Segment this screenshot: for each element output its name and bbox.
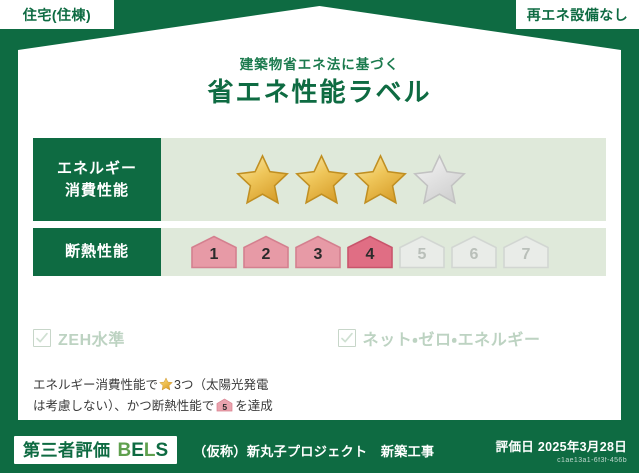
zeh-standard-checkbox[interactable] (33, 329, 51, 347)
evaluation-id: c1ae13a1-6f3f-456b (496, 457, 627, 464)
zeh-row: ZEH水準 エネルギー消費性能で3つ（太陽光発電は考慮しない）、かつ断熱性能で5… (33, 326, 606, 416)
energy-consumption-value (161, 138, 606, 221)
bels-letter-e: E (131, 440, 144, 461)
energy-performance-label: 住宅(住棟) 再エネ設備なし 建築物省エネ法に基づく 省エネ性能ラベル エネルギ… (0, 0, 639, 473)
inline-star-icon (159, 377, 173, 391)
zeh-standard-description: エネルギー消費性能で3つ（太陽光発電は考慮しない）、かつ断熱性能で5を達成 (33, 355, 302, 416)
insulation-level-number: 6 (470, 247, 479, 270)
bels-letter-s: S (156, 440, 169, 461)
insulation-performance-label-text: 断熱性能 (65, 241, 129, 263)
zeh-section: ZEH水準 エネルギー消費性能で3つ（太陽光発電は考慮しない）、かつ断熱性能で5… (33, 326, 606, 416)
insulation-level-2: 2 (241, 234, 291, 270)
star-filled-icon (353, 153, 408, 206)
net-zero-energy-checkbox[interactable] (338, 329, 356, 347)
insulation-level-5: 5 (397, 234, 447, 270)
insulation-level-scale: 1234567 (189, 234, 551, 270)
building-type-tag: 住宅(住棟) (0, 0, 116, 31)
insulation-level-6: 6 (449, 234, 499, 270)
net-zero-energy-title: ネット・ゼロ・エネルギー (363, 326, 541, 350)
energy-consumption-label: エネルギー 消費性能 (33, 138, 161, 221)
renewable-equipment-tag: 再エネ設備なし (514, 0, 639, 31)
energy-consumption-label-line1: エネルギー (57, 158, 137, 180)
insulation-performance-label: 断熱性能 (33, 228, 161, 276)
insulation-level-number: 7 (522, 247, 531, 270)
insulation-level-number: 1 (210, 247, 219, 270)
check-icon (340, 331, 354, 345)
evaluation-date-label: 評価日 (496, 440, 534, 454)
star-rating (235, 153, 467, 206)
label-title-block: 建築物省エネ法に基づく 省エネ性能ラベル (0, 58, 639, 106)
star-filled-icon (235, 153, 290, 206)
zeh-desc-part2: は考慮しない）、かつ断熱性能で (33, 399, 214, 413)
bels-letter-b: B (118, 440, 132, 461)
zeh-standard-title: ZEH水準 (58, 326, 125, 350)
insulation-level-4: 4 (345, 234, 395, 270)
building-type-tag-label: 住宅(住棟) (23, 5, 91, 25)
energy-consumption-label-line2: 消費性能 (65, 180, 129, 202)
check-icon (35, 331, 49, 345)
inline-house-icon: 5 (216, 398, 233, 412)
insulation-level-number: 2 (262, 247, 271, 270)
evaluation-info: 評価日 2025年3月28日 c1ae13a1-6f3f-456b (496, 436, 627, 464)
label-subtitle: 建築物省エネ法に基づく (0, 58, 639, 73)
net-zero-energy-header: ネット・ゼロ・エネルギー (338, 326, 607, 350)
zeh-desc-part1: エネルギー消費性能で (33, 378, 158, 392)
footer-bar: 第三者評価 BELS （仮称）新丸子プロジェクト 新築工事 評価日 2025年3… (0, 427, 639, 473)
renewable-equipment-tag-label: 再エネ設備なし (527, 5, 629, 25)
insulation-level-number: 5 (418, 247, 427, 270)
third-party-evaluation-label: 第三者評価 (23, 442, 111, 459)
zeh-standard-column: ZEH水準 エネルギー消費性能で3つ（太陽光発電は考慮しない）、かつ断熱性能で5… (33, 326, 302, 416)
insulation-performance-value: 1234567 (161, 228, 606, 276)
evaluation-date: 評価日 2025年3月28日 (496, 436, 627, 455)
bels-badge: 第三者評価 BELS (14, 436, 177, 464)
bels-letter-l: L (144, 440, 156, 461)
insulation-level-3: 3 (293, 234, 343, 270)
net-zero-energy-column: ネット・ゼロ・エネルギー (302, 326, 607, 350)
ratings-section: エネルギー 消費性能 断熱性能 1234567 (33, 138, 606, 283)
insulation-level-number: 4 (366, 247, 375, 270)
zeh-desc-stars: 3つ（太陽光発電 (174, 378, 268, 392)
zeh-desc-part3: を達成 (235, 399, 273, 413)
insulation-level-1: 1 (189, 234, 239, 270)
energy-consumption-row: エネルギー 消費性能 (33, 138, 606, 221)
evaluation-date-value: 2025年3月28日 (538, 440, 627, 454)
insulation-level-7: 7 (501, 234, 551, 270)
project-name: （仮称）新丸子プロジェクト 新築工事 (193, 441, 434, 460)
star-empty-icon (412, 153, 467, 206)
star-filled-icon (294, 153, 349, 206)
page-title: 省エネ性能ラベル (0, 78, 639, 107)
insulation-level-number: 3 (314, 247, 323, 270)
insulation-performance-row: 断熱性能 1234567 (33, 228, 606, 276)
inline-house-level: 5 (216, 403, 233, 412)
zeh-standard-header: ZEH水準 (33, 326, 302, 350)
bels-logo: BELS (118, 441, 169, 460)
